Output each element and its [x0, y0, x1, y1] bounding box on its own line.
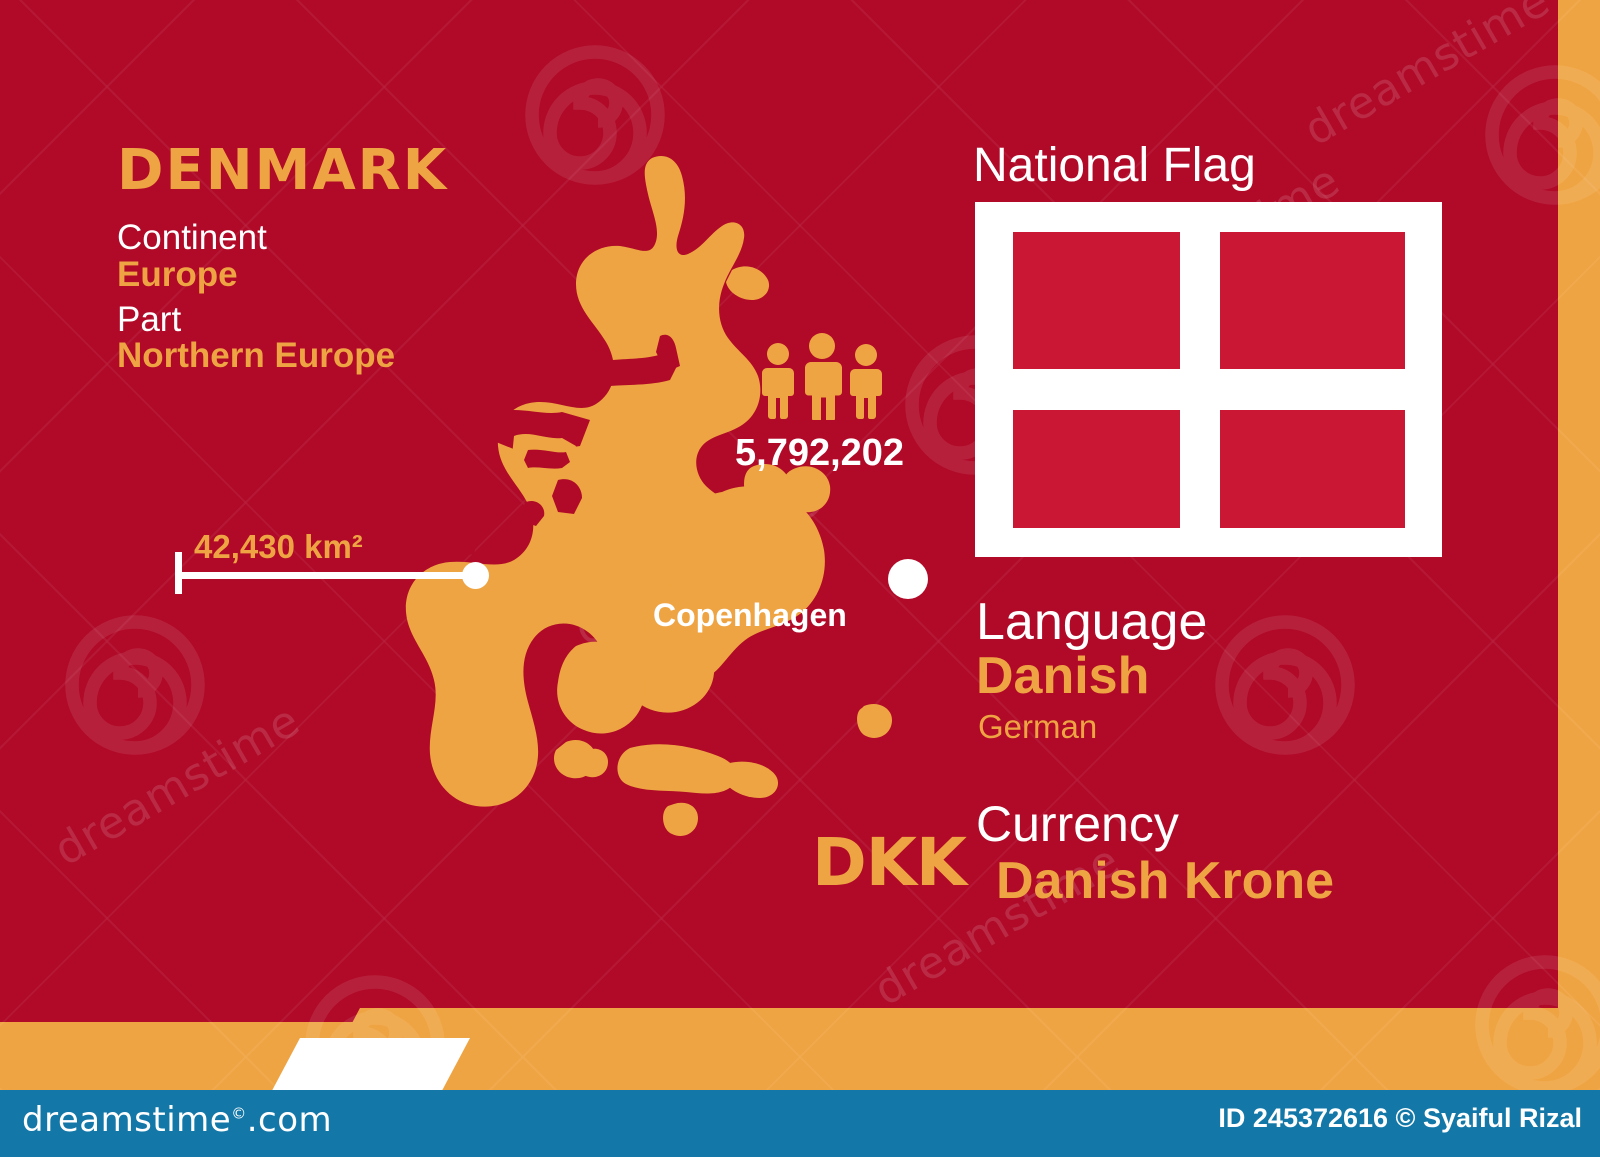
dreamstime-brand: dreamstime: [22, 1100, 231, 1140]
dreamstime-domain: .com: [247, 1100, 332, 1140]
infographic-canvas: dreamstime dreamstime dreamstime dreamst…: [0, 0, 1600, 1157]
denmark-map[interactable]: [330, 150, 990, 890]
flag-quadrant-bottom-left: [1013, 410, 1180, 528]
capital-name: Copenhagen: [653, 597, 847, 634]
image-credit: ID 245372616 © Syaiful Rizal: [1218, 1103, 1582, 1134]
language-heading: Language: [976, 592, 1207, 652]
country-title: DENMARK: [117, 138, 448, 203]
denmark-map-svg: [330, 150, 990, 890]
language-primary: Danish: [976, 646, 1149, 706]
people-icon: [758, 330, 888, 420]
map-islands-south: [580, 744, 778, 836]
dreamstime-logo[interactable]: dreamstime©.com: [22, 1100, 332, 1140]
part-label: Part: [117, 300, 181, 340]
population-value: 5,792,202: [735, 432, 904, 475]
currency-code: DKK: [812, 824, 966, 901]
flag-quadrant-top-left: [1013, 232, 1180, 369]
map-island-laeso: [726, 266, 769, 300]
orange-diagonal-band: [314, 1008, 1600, 1094]
area-measure-line: [175, 572, 480, 579]
area-value: 42,430 km²: [194, 528, 363, 566]
map-island-bornholm: [857, 704, 892, 738]
flag-quadrant-bottom-right: [1220, 410, 1405, 528]
currency-value: Danish Krone: [996, 851, 1334, 911]
registered-icon: ©: [231, 1105, 247, 1123]
currency-heading: Currency: [976, 795, 1179, 853]
white-diagonal-wedge: [270, 1038, 470, 1094]
capital-marker-icon[interactable]: [888, 559, 928, 599]
continent-label: Continent: [117, 218, 267, 258]
area-measure-dot: [462, 562, 489, 589]
continent-value: Europe: [117, 255, 238, 295]
language-secondary: German: [978, 708, 1097, 746]
flag-heading: National Flag: [973, 138, 1256, 193]
denmark-flag: [975, 202, 1442, 557]
flag-quadrant-top-right: [1220, 232, 1405, 369]
part-value: Northern Europe: [117, 336, 395, 376]
